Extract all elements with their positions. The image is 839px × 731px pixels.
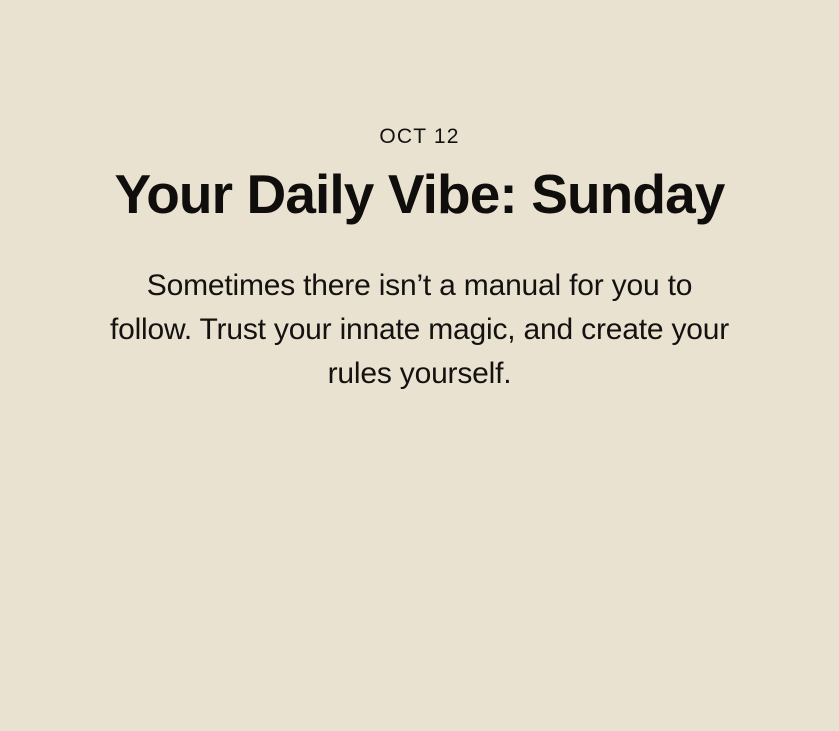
date-label: OCT 12	[379, 126, 459, 147]
body-text: Sometimes there isn’t a manual for you t…	[107, 222, 732, 396]
daily-vibe-card: OCT 12 Your Daily Vibe: Sunday Sometimes…	[0, 0, 839, 731]
page-title: Your Daily Vibe: Sunday	[100, 147, 740, 222]
empty-area	[0, 396, 839, 731]
